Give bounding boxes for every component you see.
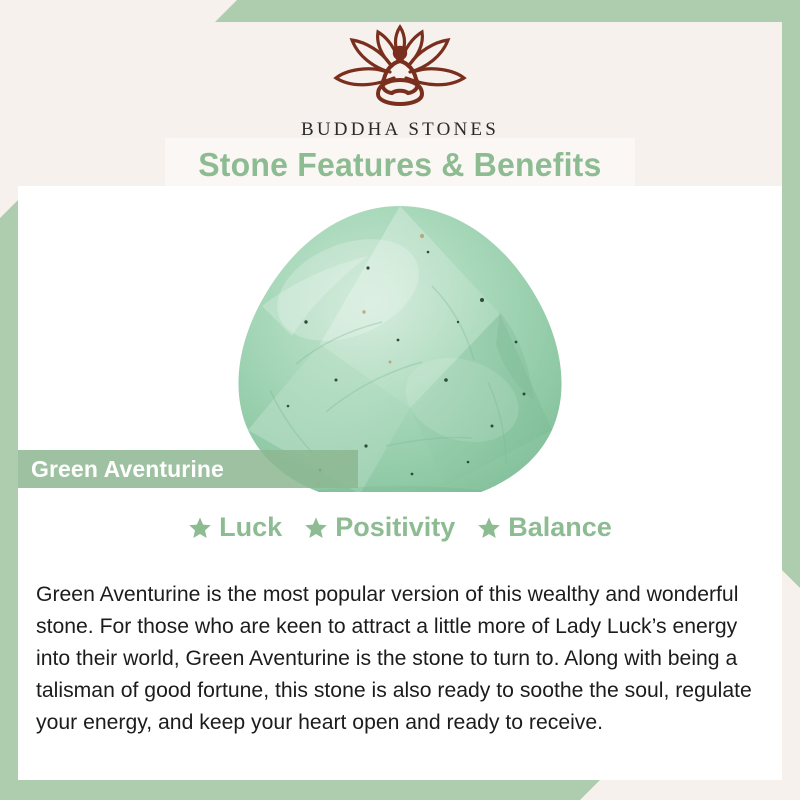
lotus-meditation-logo-icon bbox=[316, 22, 484, 114]
stone-name-label: Green Aventurine bbox=[31, 456, 224, 483]
benefit-label-balance: Balance bbox=[508, 512, 612, 543]
star-icon bbox=[304, 516, 328, 540]
description-text: Green Aventurine is the most popular ver… bbox=[36, 578, 759, 738]
frame-bottom-band bbox=[0, 780, 600, 800]
frame-left-strip bbox=[0, 200, 18, 800]
star-icon bbox=[188, 516, 212, 540]
description-section: Luck Positivity Balance Green Aventurine… bbox=[18, 492, 782, 780]
brand-logo-block: BUDDHA STONES bbox=[0, 22, 800, 141]
benefit-item-balance: Balance bbox=[477, 512, 612, 543]
stone-name-badge: Green Aventurine bbox=[18, 450, 358, 488]
page-title: Stone Features & Benefits bbox=[198, 146, 601, 184]
benefit-label-luck: Luck bbox=[219, 512, 282, 543]
title-banner: Stone Features & Benefits bbox=[165, 138, 635, 192]
frame-top-band bbox=[215, 0, 800, 22]
benefit-label-positivity: Positivity bbox=[335, 512, 455, 543]
benefits-row: Luck Positivity Balance bbox=[18, 512, 782, 543]
product-photo-area bbox=[18, 186, 782, 492]
benefit-item-luck: Luck bbox=[188, 512, 282, 543]
green-aventurine-stone-image bbox=[200, 194, 600, 492]
infographic-page: BUDDHA STONES Stone Features & Benefits bbox=[0, 0, 800, 800]
benefit-item-positivity: Positivity bbox=[304, 512, 455, 543]
star-icon bbox=[477, 516, 501, 540]
